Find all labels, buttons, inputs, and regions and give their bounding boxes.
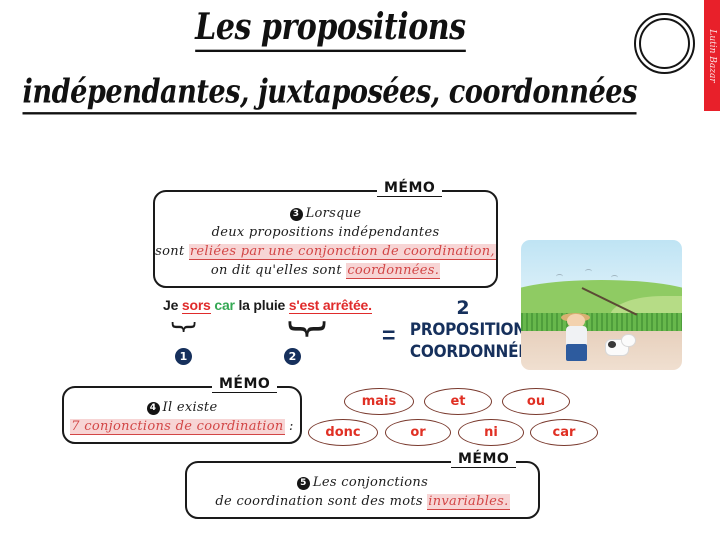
memo-label-3: MÉMO — [377, 181, 442, 197]
memo-line: de coordination sont des mots invariable… — [187, 492, 538, 511]
child-legs — [566, 344, 587, 361]
watermark-text: Lutin Bazar — [707, 29, 717, 82]
empty-circle-stamp — [634, 13, 695, 74]
memo-line: 3Lorsque — [155, 204, 496, 223]
memo-text: sont — [155, 244, 189, 259]
conjunction-et[interactable]: et — [424, 388, 492, 415]
memo-text: Les conjonctions — [313, 475, 428, 490]
memo-line: 5Les conjonctions — [187, 473, 538, 492]
memo-line: sont reliées par une conjonction de coor… — [155, 242, 496, 261]
memo-box-5: MÉMO 5Les conjonctions de coordination s… — [185, 461, 540, 519]
conclusion-word-2: COORDONNÉES — [410, 341, 516, 363]
conjunction-ni[interactable]: ni — [458, 419, 524, 446]
clause-number-2: 2 — [284, 348, 301, 365]
title-line-2: indépendantes, juxtaposées, coordonnées — [23, 72, 637, 114]
memo-text: Il existe — [163, 400, 218, 415]
conjunction-mais[interactable]: mais — [344, 388, 414, 415]
memo-text: de coordination sont des mots — [215, 494, 427, 509]
memo-number-badge: 3 — [290, 208, 303, 221]
title-line-1: Les propositions — [195, 6, 465, 52]
memo-line: 7 conjonctions de coordination : — [64, 417, 300, 436]
conjunction-or[interactable]: or — [385, 419, 451, 446]
memo-text: Lorsque — [306, 206, 362, 221]
conclusion-word-1: PROPOSITIONS — [410, 319, 516, 341]
conjunction-donc[interactable]: donc — [308, 419, 378, 446]
memo-label-4: MÉMO — [212, 377, 277, 393]
conclusion-count: 2 — [404, 297, 522, 319]
dog-head — [621, 334, 636, 348]
bird-icon — [585, 269, 592, 274]
illustration-child-fishing — [521, 240, 682, 370]
memo-number-badge: 5 — [297, 477, 310, 490]
memo-highlight: reliées par une conjonction de coordinat… — [189, 244, 496, 260]
page-title: Les propositions indépendantes, juxtapos… — [0, 6, 660, 108]
memo-highlight: 7 conjonctions de coordination — [70, 419, 284, 435]
conjunction-ou[interactable]: ou — [502, 388, 570, 415]
brace-clause-1: } — [169, 307, 199, 347]
clause-number-1: 1 — [175, 348, 192, 365]
watermark-strip: Lutin Bazar — [704, 0, 720, 111]
brace-clause-2: } — [285, 269, 331, 389]
conclusion-block: 2 PROPOSITIONS COORDONNÉES — [404, 297, 522, 363]
memo-label-5: MÉMO — [451, 452, 516, 468]
memo-body-4: 4Il existe 7 conjonctions de coordinatio… — [64, 388, 300, 436]
memo-text: deux propositions indépendantes — [212, 225, 440, 240]
bird-icon — [556, 274, 563, 279]
grass-shape — [521, 313, 682, 331]
memo-number-badge: 4 — [147, 402, 160, 415]
worksheet-page: Les propositions indépendantes, juxtapos… — [0, 0, 720, 540]
equals-sign: = — [382, 322, 395, 349]
memo-line: deux propositions indépendantes — [155, 223, 496, 242]
memo-body-3: 3Lorsque deux propositions indépendantes… — [155, 192, 496, 280]
memo-line: 4Il existe — [64, 398, 300, 417]
example-word: la pluie — [235, 297, 289, 313]
memo-box-4: MÉMO 4Il existe 7 conjonctions de coordi… — [62, 386, 302, 444]
memo-body-5: 5Les conjonctions de coordination sont d… — [187, 463, 538, 511]
example-word-conjunction: car — [214, 297, 234, 313]
conjunction-car[interactable]: car — [530, 419, 598, 446]
dog-spot — [608, 341, 616, 348]
memo-highlight: invariables. — [427, 494, 509, 510]
memo-text: : — [285, 419, 294, 434]
memo-highlight: coordonnées. — [346, 263, 440, 279]
